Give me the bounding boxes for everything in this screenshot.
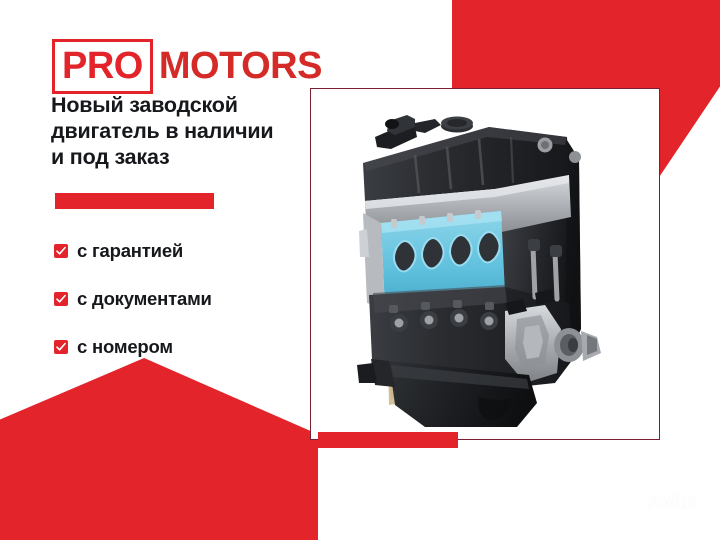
product-photo-frame (310, 88, 660, 440)
headline-line-2: двигатель в наличии (51, 118, 301, 144)
avito-watermark-text: Avito (647, 492, 696, 513)
frame-accent-bar (318, 432, 458, 448)
list-item: с номером (54, 324, 304, 370)
feature-list: с гарантией с документами с номером (54, 228, 304, 372)
headline-line-1: Новый заводской (51, 92, 301, 118)
product-photo (311, 89, 659, 439)
list-item-label: с номером (77, 336, 173, 358)
logo-motors-word: MOTORS (153, 39, 322, 94)
checkbox-checked-icon (54, 244, 68, 258)
avito-watermark: Avito (622, 492, 696, 513)
logo-pro-word: PRO (52, 39, 153, 94)
checkbox-checked-icon (54, 340, 68, 354)
list-item-label: с гарантией (77, 240, 183, 262)
checkbox-checked-icon (54, 292, 68, 306)
list-item: с документами (54, 276, 304, 322)
decorative-shape-bottom-left (0, 358, 318, 540)
headline: Новый заводской двигатель в наличии и по… (51, 92, 301, 171)
red-divider-bar (55, 193, 214, 209)
list-item: с гарантией (54, 228, 304, 274)
promo-banner: PRO MOTORS Новый заводской двигатель в н… (0, 0, 720, 540)
headline-line-3: и под заказ (51, 144, 301, 170)
avito-dots-icon (622, 494, 644, 512)
engine-block-photo (329, 97, 649, 435)
list-item-label: с документами (77, 288, 212, 310)
brand-logo: PRO MOTORS (52, 39, 322, 94)
